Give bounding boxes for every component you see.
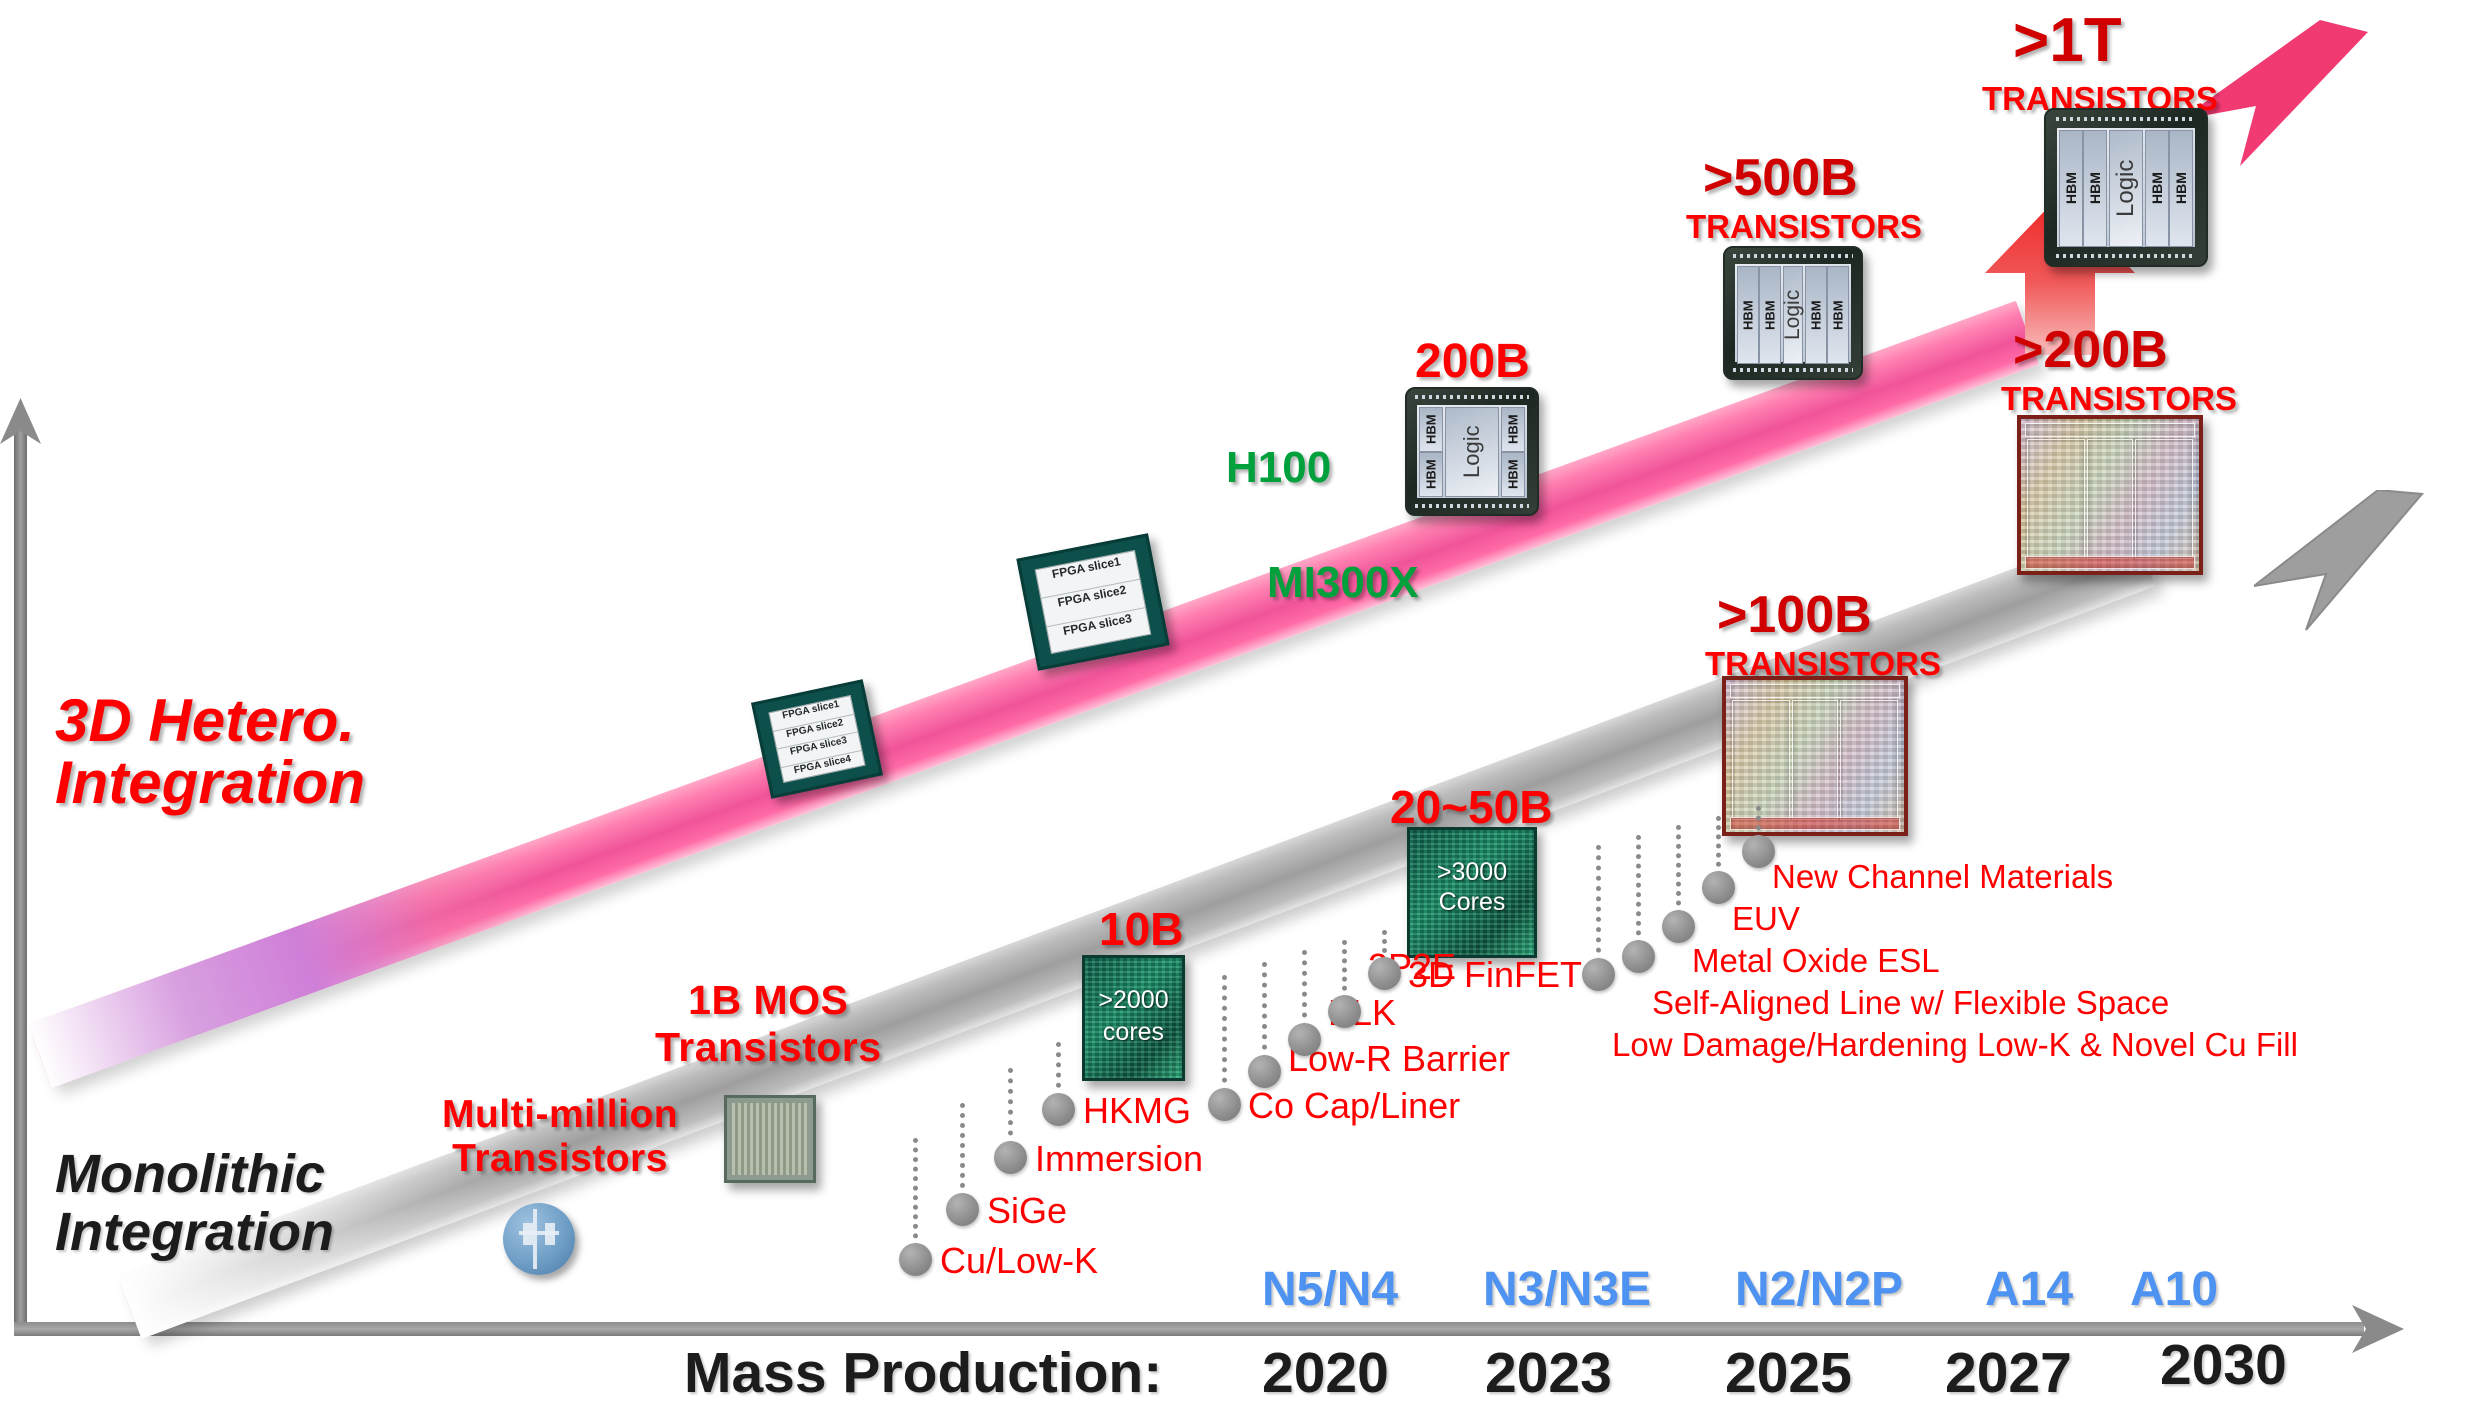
accelerator-mi300x: MI300X bbox=[1267, 558, 1419, 608]
mono-label-line1: Monolithic bbox=[55, 1145, 334, 1203]
mass-production-label: Mass Production: bbox=[684, 1340, 1162, 1406]
chip-2050b-text-1: >3000 bbox=[1410, 858, 1534, 887]
node-label-n5-n4: N5/N4 bbox=[1262, 1262, 1398, 1317]
milestone-200b-unit: TRANSISTORS bbox=[2001, 380, 2237, 418]
hbm-label: HBM bbox=[1737, 266, 1759, 364]
hbm-label: HBM bbox=[1501, 407, 1525, 452]
hetero-ribbon-fade bbox=[28, 839, 559, 1088]
hetero-label-line1: 3D Hetero. bbox=[55, 690, 365, 752]
hbm-label: HBM bbox=[2083, 130, 2107, 247]
milestone-1t-count: >1T bbox=[2013, 5, 2122, 76]
callout-sige: SiGe bbox=[987, 1190, 1067, 1232]
leader-line bbox=[1716, 816, 1721, 876]
callout-3d-finfet: 3D FinFET bbox=[1408, 954, 1582, 996]
node-label-a14: A14 bbox=[1985, 1262, 2073, 1317]
leader-line bbox=[1008, 1068, 1013, 1146]
y-axis-line bbox=[14, 430, 27, 1330]
hbm-label: HBM bbox=[1759, 266, 1781, 364]
leader-knob bbox=[1368, 957, 1401, 990]
multimillion-count: Multi-million bbox=[442, 1093, 678, 1137]
roadmap-diagram: 3D Hetero. Integration Monolithic Integr… bbox=[0, 0, 2491, 1418]
callout-euv: EUV bbox=[1732, 900, 1800, 938]
node-label-a10: A10 bbox=[2130, 1262, 2218, 1317]
hbm-label: HBM bbox=[2145, 130, 2169, 247]
leader-knob bbox=[1582, 958, 1615, 991]
hbm-label: HBM bbox=[1827, 266, 1849, 364]
leader-line bbox=[1342, 940, 1347, 1000]
callout-hkmg: HKMG bbox=[1083, 1090, 1191, 1132]
track-label-hetero: 3D Hetero. Integration bbox=[55, 690, 365, 814]
milestone-10b-label: 10B bbox=[1099, 902, 1183, 956]
logic-label: Logic bbox=[1445, 407, 1499, 497]
leader-knob bbox=[1042, 1093, 1075, 1126]
hbm-label: HBM bbox=[1805, 266, 1827, 364]
chip-hbm-200b: HBM HBM HBM HBM Logic bbox=[1405, 387, 1539, 516]
leader-line bbox=[1596, 845, 1601, 963]
milestone-hetero-200b: 200B bbox=[1415, 334, 1530, 389]
chip-hbm-1t: HBM HBM HBM HBM Logic bbox=[2044, 108, 2208, 267]
year-label-2020: 2020 bbox=[1262, 1340, 1389, 1406]
hbm-label: HBM bbox=[1419, 452, 1443, 497]
leader-knob bbox=[1702, 871, 1735, 904]
callout-low-r-barrier: Low-R Barrier bbox=[1288, 1038, 1510, 1080]
year-label-2027: 2027 bbox=[1945, 1340, 2072, 1406]
year-label-2025: 2025 bbox=[1725, 1340, 1852, 1406]
leader-line bbox=[1222, 975, 1227, 1093]
leader-knob bbox=[1622, 940, 1655, 973]
logic-label: Logic bbox=[1783, 266, 1803, 364]
milestone-500b-unit: TRANSISTORS bbox=[1686, 208, 1922, 246]
chip-hbm-500b: HBM HBM HBM HBM Logic bbox=[1723, 246, 1863, 380]
logic-label: Logic bbox=[2109, 130, 2143, 247]
leader-knob bbox=[946, 1193, 979, 1226]
mos1b-count: 1B MOS bbox=[655, 977, 882, 1024]
chip-2050b-text-2: Cores bbox=[1410, 888, 1534, 917]
accelerator-h100: H100 bbox=[1226, 443, 1331, 493]
node-label-n2-n2p: N2/N2P bbox=[1735, 1262, 1903, 1317]
leader-line bbox=[1636, 835, 1641, 945]
chip-100b-die bbox=[1722, 676, 1908, 836]
chip-10b-text-1: >2000 bbox=[1085, 986, 1182, 1015]
chip-10b-text-2: cores bbox=[1085, 1018, 1182, 1047]
milestone-100b-count: >100B bbox=[1717, 585, 1872, 645]
leader-line bbox=[1056, 1042, 1061, 1098]
milestone-200b-count: >200B bbox=[2013, 320, 2168, 380]
leader-line bbox=[1676, 825, 1681, 915]
multimillion-unit: Transistors bbox=[442, 1137, 678, 1181]
callout-immersion: Immersion bbox=[1035, 1138, 1203, 1180]
callout-self-aligned: Self-Aligned Line w/ Flexible Space bbox=[1652, 984, 2169, 1022]
leader-knob bbox=[1328, 995, 1361, 1028]
x-axis-arrowhead bbox=[2352, 1305, 2404, 1353]
chip-20-50b-cores: >3000 Cores bbox=[1407, 827, 1537, 958]
milestone-20-50b-label: 20~50B bbox=[1390, 780, 1552, 834]
callout-cu-lowk: Cu/Low-K bbox=[940, 1240, 1098, 1282]
y-axis-arrowhead bbox=[0, 398, 41, 444]
callout-new-channel-materials: New Channel Materials bbox=[1772, 858, 2113, 896]
leader-knob bbox=[1662, 910, 1695, 943]
callout-co-cap-liner: Co Cap/Liner bbox=[1248, 1085, 1460, 1127]
year-label-2023: 2023 bbox=[1485, 1340, 1612, 1406]
callout-low-damage: Low Damage/Hardening Low-K & Novel Cu Fi… bbox=[1612, 1026, 2298, 1064]
leader-line bbox=[913, 1138, 918, 1248]
leader-line bbox=[1262, 962, 1267, 1060]
leader-line bbox=[960, 1103, 965, 1198]
chip-200b-die bbox=[2017, 415, 2203, 575]
mos1b-unit: Transistors bbox=[655, 1024, 882, 1071]
milestone-multi-million: Multi-million Transistors bbox=[442, 1093, 678, 1181]
hbm-label: HBM bbox=[2059, 130, 2083, 247]
leader-knob bbox=[899, 1243, 932, 1276]
milestone-1b-mos: 1B MOS Transistors bbox=[655, 977, 882, 1071]
hbm-label: HBM bbox=[1419, 407, 1443, 452]
year-label-2030: 2030 bbox=[2160, 1332, 2287, 1398]
leader-knob bbox=[1208, 1088, 1241, 1121]
hbm-label: HBM bbox=[1501, 452, 1525, 497]
mono-label-line2: Integration bbox=[55, 1203, 334, 1261]
chip-wafer-multi-million bbox=[503, 1203, 575, 1275]
hetero-label-line2: Integration bbox=[55, 752, 365, 814]
callout-metal-oxide-esl: Metal Oxide ESL bbox=[1692, 942, 1940, 980]
x-axis-line bbox=[14, 1322, 2364, 1336]
chip-10b-cores: >2000 cores bbox=[1082, 955, 1185, 1081]
leader-knob bbox=[1248, 1055, 1281, 1088]
node-label-n3-n3e: N3/N3E bbox=[1483, 1262, 1651, 1317]
milestone-500b-count: >500B bbox=[1703, 148, 1858, 208]
leader-knob bbox=[1742, 835, 1775, 868]
chip-1b-mos bbox=[724, 1095, 816, 1183]
monolithic-ribbon-arrowhead bbox=[2254, 490, 2424, 640]
hbm-label: HBM bbox=[2169, 130, 2193, 247]
track-label-monolithic: Monolithic Integration bbox=[55, 1145, 334, 1261]
leader-knob bbox=[994, 1141, 1027, 1174]
leader-knob bbox=[1288, 1023, 1321, 1056]
leader-line bbox=[1302, 950, 1307, 1028]
